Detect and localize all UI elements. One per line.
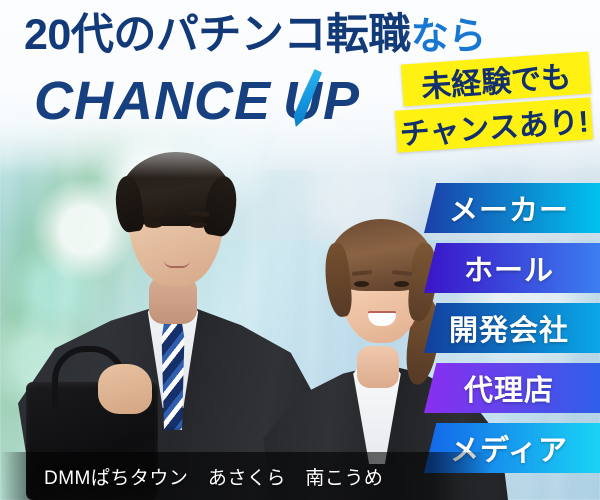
caption-bar: DMMぱちタウン あさくら 南こうめ	[0, 452, 600, 500]
chance-up-logo: CHANCEUP	[34, 74, 360, 128]
headline-main-text: 20代のパチンコ転職	[24, 11, 411, 59]
logo-word-up: UP	[283, 74, 360, 128]
caption-text: DMMぱちタウン あさくら 南こうめ	[44, 463, 383, 490]
category-button-agency[interactable]: 代理店	[424, 363, 600, 413]
category-button-maker[interactable]: メーカー	[424, 183, 600, 233]
headline: 20代のパチンコ転職なら	[24, 14, 486, 57]
advertisement-banner: 20代のパチンコ転職なら CHANCEUP 未経験でも チャンスあり! メーカー…	[0, 0, 600, 500]
category-label-development-company: 開発会社	[449, 307, 569, 349]
category-label-maker: メーカー	[449, 187, 569, 229]
category-label-agency: 代理店	[464, 367, 554, 409]
logo-word-chance: CHANCE	[34, 71, 271, 131]
category-button-hall[interactable]: ホール	[424, 243, 600, 293]
headline-suffix-text: なら	[411, 16, 486, 58]
logo-word-up-text: UP	[283, 71, 360, 131]
category-button-development-company[interactable]: 開発会社	[424, 303, 600, 353]
category-list: メーカー ホール 開発会社 代理店 メディア	[0, 183, 600, 483]
category-label-hall: ホール	[464, 247, 554, 289]
